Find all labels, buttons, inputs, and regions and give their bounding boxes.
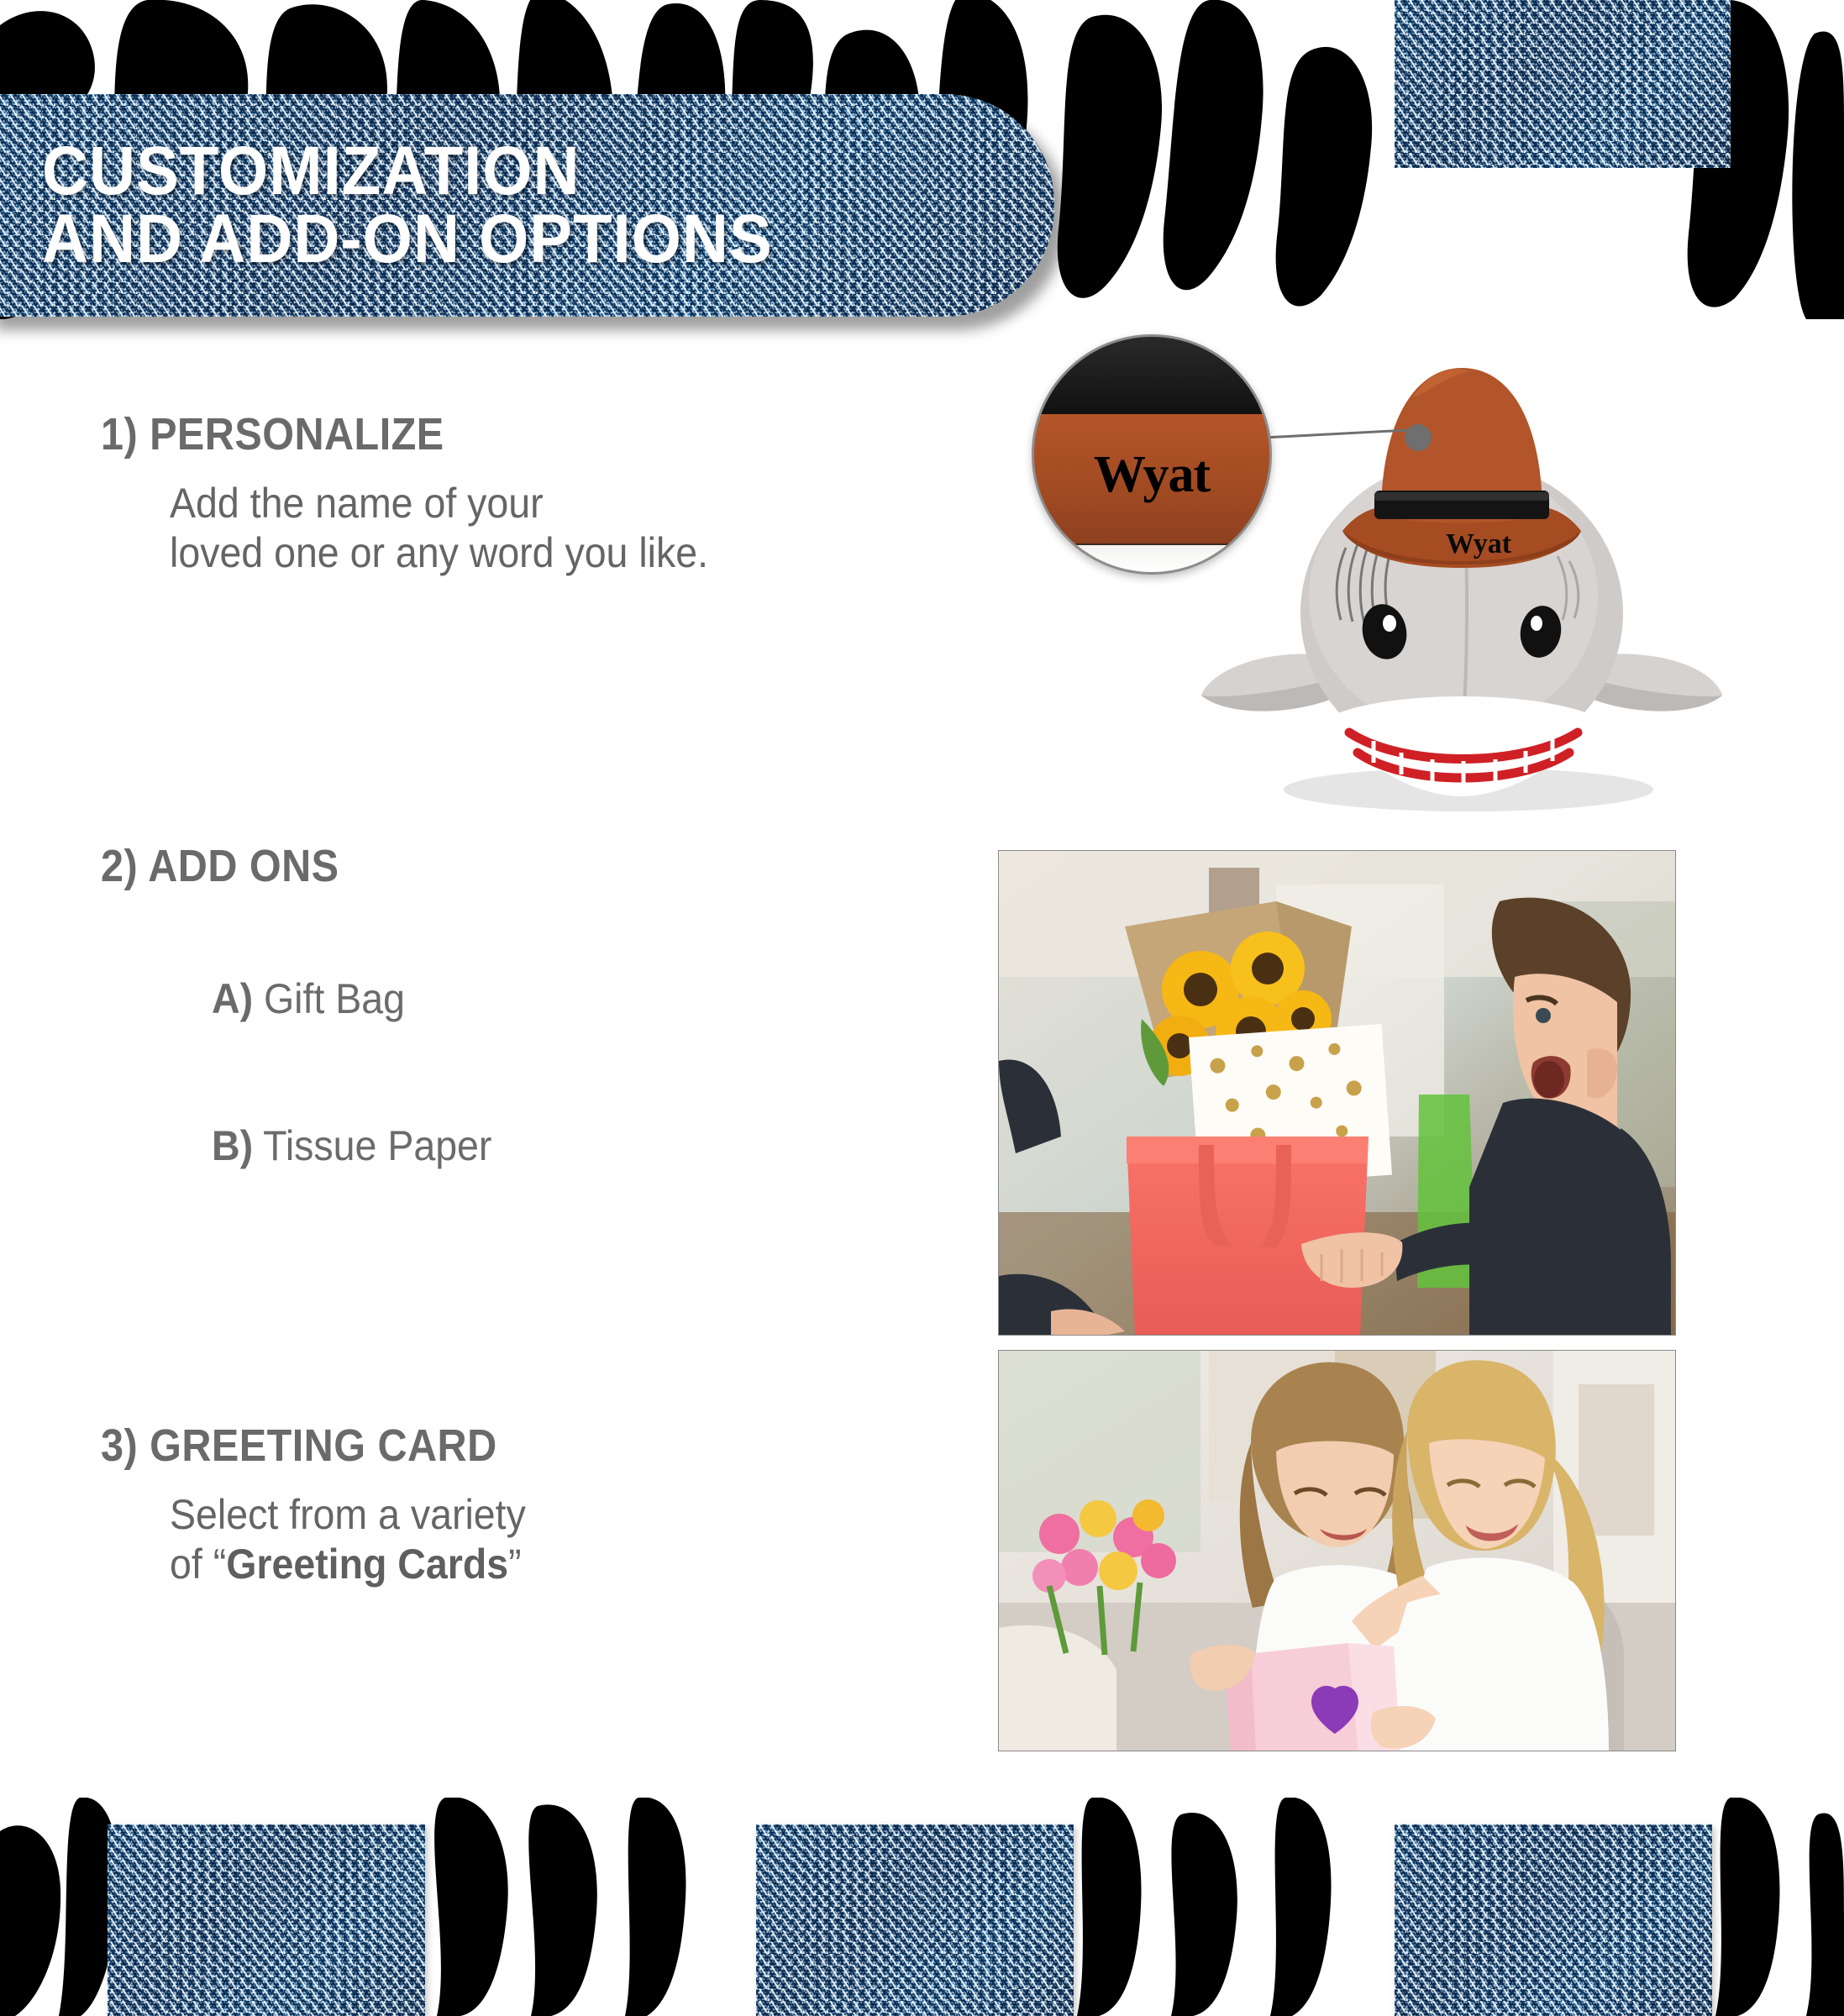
greeting-card-photo [998, 1350, 1676, 1751]
step-3-title: 3) GREETING CARD [101, 1420, 507, 1472]
shark-plush-product-image: Wyat [1201, 319, 1722, 840]
step-3-quote-prefix: of “ [170, 1541, 226, 1588]
step-3-quote-bold: Greeting Cards [226, 1541, 508, 1588]
add-on-a-letter: A) [212, 975, 253, 1022]
step-3-body: Select from a variety of “Greeting Cards… [170, 1490, 526, 1589]
personalization-magnifier-callout: Wyat [1032, 334, 1272, 575]
callout-anchor-dot [1405, 424, 1432, 451]
step-1-body-line-2: loved one or any word you like. [170, 528, 708, 578]
step-3-body-line-1: Select from a variety [170, 1490, 526, 1540]
gift-bag-photo [998, 850, 1676, 1336]
bottom-denim-panel-3 [1395, 1824, 1712, 2016]
step-1-body-line-1: Add the name of your [170, 479, 708, 528]
bottom-denim-panel-2 [756, 1824, 1074, 2016]
top-denim-swatch [1395, 0, 1731, 168]
magnified-name-text: Wyat [1034, 445, 1269, 505]
add-on-item-gift-bag: A) Gift Bag [212, 974, 405, 1023]
step-2-add-ons: 2) ADD ONS [101, 840, 365, 892]
step-3-quote-suffix: ” [508, 1541, 521, 1588]
greeting-card-scene [999, 1351, 1676, 1751]
bottom-border [0, 1798, 1844, 2016]
bottom-denim-panel-1 [108, 1824, 425, 2016]
step-1-body: Add the name of your loved one or any wo… [170, 479, 708, 578]
add-on-item-tissue-paper: B) Tissue Paper [212, 1121, 491, 1170]
step-1-personalize: 1) PERSONALIZE Add the name of your love… [101, 408, 749, 578]
step-1-title: 1) PERSONALIZE [101, 408, 684, 460]
add-on-b-letter: B) [212, 1122, 253, 1169]
hat-embroidered-name: Wyat [1446, 528, 1512, 559]
plush-fabric-detail [1034, 543, 1269, 572]
add-on-a-label: Gift Bag [264, 975, 405, 1022]
step-3-body-line-2: of “Greeting Cards” [170, 1540, 526, 1589]
add-on-b-label: Tissue Paper [263, 1122, 491, 1169]
banner-title-line-1: CUSTOMIZATION [42, 138, 984, 205]
banner-title-line-2: AND ADD-ON OPTIONS [42, 206, 984, 273]
gift-bag-scene [999, 851, 1676, 1336]
step-2-title: 2) ADD ONS [101, 840, 339, 892]
shark-plush-illustration: Wyat [1201, 319, 1722, 840]
step-3-greeting-card: 3) GREETING CARD Select from a variety o… [101, 1420, 553, 1589]
title-banner: CUSTOMIZATION AND ADD-ON OPTIONS [0, 94, 1054, 317]
hat-band-detail [1034, 337, 1269, 417]
